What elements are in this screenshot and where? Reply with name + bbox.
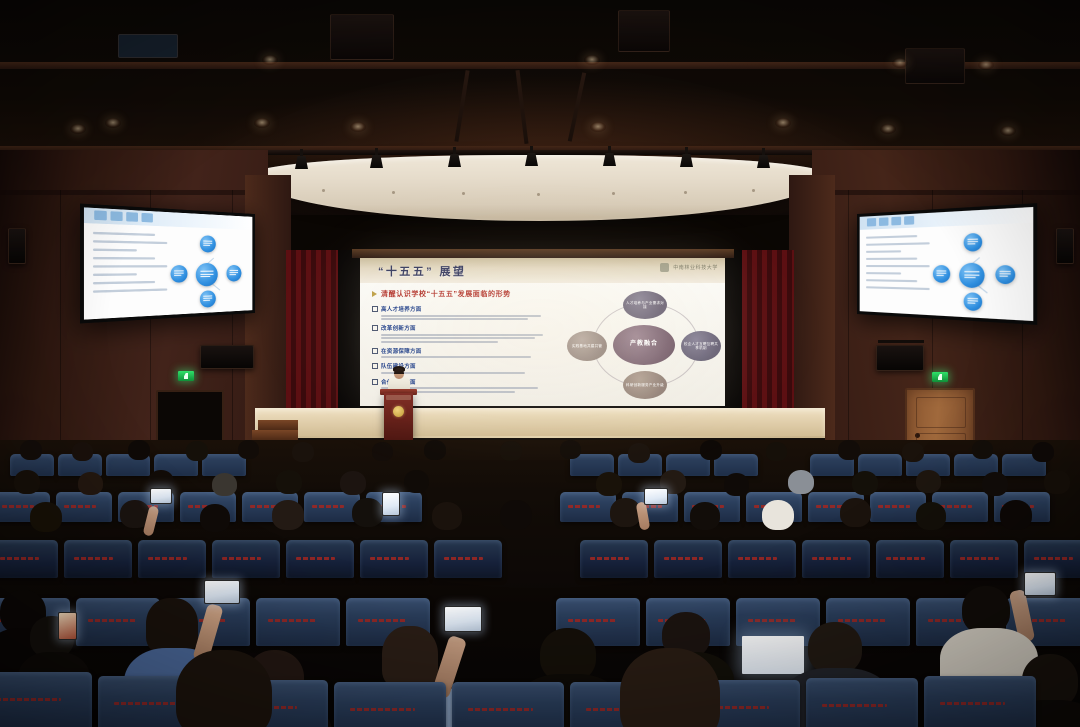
node-icon-right — [995, 265, 1015, 284]
seat[interactable] — [138, 540, 206, 578]
stage-spotlight — [448, 147, 461, 167]
ceiling-downlight — [262, 55, 278, 65]
triangle-bullet-icon — [372, 291, 377, 297]
seat[interactable] — [806, 678, 918, 727]
phone-screen — [150, 488, 172, 504]
square-bullet-icon — [372, 363, 378, 369]
auditorium-photo: “十五五” 展望 中南林业科技大学 清醒认识学校“十五五”发展面临的形势 高人才… — [0, 0, 1080, 727]
audience-area — [0, 440, 1080, 727]
slide-text-column — [866, 234, 935, 295]
node-icon-top — [200, 235, 216, 252]
ceiling-downlight — [892, 58, 908, 68]
diagram-node-right: 校企人才互聘互聘共享机制 — [681, 331, 721, 361]
seat[interactable] — [360, 540, 428, 578]
wall-speaker — [1056, 228, 1074, 264]
wall-speaker — [876, 345, 924, 371]
list-item: 高人才培养方面 — [372, 305, 548, 320]
ceiling-downlight — [978, 60, 994, 70]
ceiling-downlight — [254, 118, 270, 128]
node-icon-left — [171, 265, 188, 283]
seat[interactable] — [64, 540, 132, 578]
ceiling-downlight — [775, 118, 791, 128]
node-icon-bottom — [964, 292, 983, 311]
speaker-mount — [878, 340, 924, 343]
slide-title: “十五五” 展望 — [378, 263, 466, 279]
seat[interactable] — [560, 492, 616, 522]
hub-node-icon — [959, 263, 984, 288]
slide-diagram: 产教融合 人才培养与产业需求对接 校企人才互聘互聘共享机制 科研创新服务产业升级… — [569, 289, 719, 401]
seat[interactable] — [580, 540, 648, 578]
presenter-head — [394, 368, 404, 379]
ceiling-downlight — [350, 122, 366, 132]
square-bullet-icon — [372, 325, 378, 331]
stage-spotlight — [680, 147, 693, 167]
seat[interactable] — [212, 540, 280, 578]
stage-spotlight — [525, 146, 538, 166]
list-item: 在资源保障方面 — [372, 347, 548, 359]
square-bullet-icon — [372, 306, 378, 312]
stage-spotlight — [370, 148, 383, 168]
list-item: 改革创新方面 — [372, 324, 548, 343]
seat[interactable] — [876, 540, 944, 578]
wall-speaker — [8, 228, 26, 264]
screen-frame — [352, 249, 734, 258]
seat[interactable] — [728, 540, 796, 578]
node-icon-right — [226, 265, 241, 282]
diagram-node-left: 实践基地共建共管 — [567, 331, 607, 361]
node-icon-top — [964, 233, 983, 252]
diagram-node-top: 人才培养与产业需求对接 — [623, 291, 667, 319]
podium — [384, 393, 413, 440]
university-crest-icon: 中南林业科技大学 — [660, 263, 718, 272]
stage-spotlight — [295, 149, 308, 169]
seat[interactable] — [0, 672, 92, 727]
node-icon-bottom — [200, 290, 216, 308]
seat[interactable] — [256, 598, 340, 646]
phone-screen — [444, 606, 482, 632]
gold-seal-icon — [393, 406, 404, 417]
stage-step — [258, 420, 298, 430]
seat[interactable] — [56, 492, 112, 522]
main-projection-screen[interactable]: “十五五” 展望 中南林业科技大学 清醒认识学校“十五五”发展面临的形势 高人才… — [360, 258, 725, 406]
ceiling-downlight — [590, 122, 606, 132]
slide-title-bar: “十五五” 展望 中南林业科技大学 — [360, 258, 725, 283]
proscenium-right — [789, 175, 835, 445]
ceiling-downlight — [880, 124, 896, 134]
slide-subheading: 清醒认识学校“十五五”发展面临的形势 — [372, 289, 511, 299]
phone-screen — [204, 580, 240, 604]
seat[interactable] — [654, 540, 722, 578]
exit-sign-icon — [178, 371, 194, 381]
phone-screen — [644, 488, 668, 505]
wall-speaker — [200, 345, 254, 369]
ceiling-downlight — [1000, 126, 1016, 136]
seat[interactable] — [286, 540, 354, 578]
ceiling-downlight — [584, 55, 600, 65]
square-bullet-icon — [372, 348, 378, 354]
seat[interactable] — [950, 540, 1018, 578]
ceiling-downlight — [105, 118, 121, 128]
laptop-screen — [742, 636, 804, 674]
seat[interactable] — [0, 540, 58, 578]
seat[interactable] — [334, 682, 446, 727]
stage-spotlight — [757, 148, 770, 168]
stage-curtain-right — [742, 250, 794, 420]
seat[interactable] — [924, 676, 1036, 727]
square-bullet-icon — [372, 379, 378, 385]
stage-step — [252, 430, 298, 440]
left-wall-display[interactable] — [80, 203, 255, 323]
diagram-node-bottom: 科研创新服务产业升级 — [623, 371, 667, 399]
phone-screen — [58, 612, 77, 640]
phone-screen — [1024, 572, 1056, 596]
hub-node-icon — [196, 263, 218, 287]
seat[interactable] — [802, 540, 870, 578]
slide-text-column — [93, 232, 173, 299]
logo-text: 中南林业科技大学 — [673, 264, 718, 271]
seat[interactable] — [452, 682, 564, 727]
exit-sign-icon — [932, 372, 948, 382]
diagram-center-node: 产教融合 — [613, 325, 675, 365]
podium-nameplate — [386, 395, 411, 400]
right-wall-display[interactable] — [857, 203, 1037, 325]
node-icon-left — [933, 265, 950, 283]
phone-screen — [382, 492, 400, 516]
seat[interactable] — [434, 540, 502, 578]
ceiling-downlight — [70, 124, 86, 134]
stage-curtain-left — [286, 250, 338, 420]
stage-spotlight — [603, 146, 616, 166]
